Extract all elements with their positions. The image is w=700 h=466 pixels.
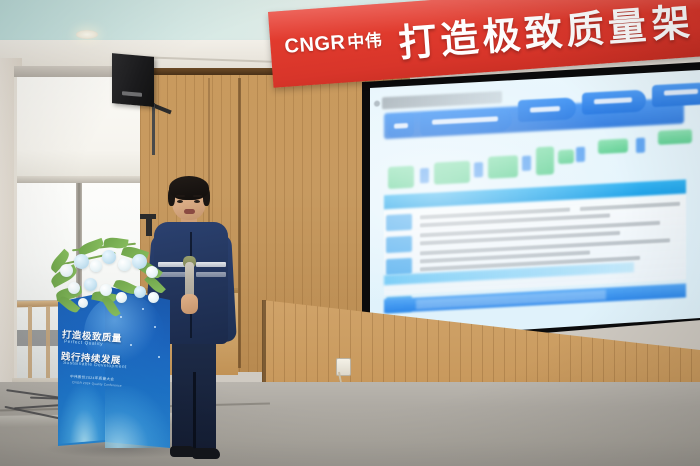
flower-bloom	[100, 284, 112, 296]
flower-bloom	[116, 292, 127, 303]
banner-headline: 打造极致质量	[396, 0, 651, 67]
podium-star	[130, 344, 132, 346]
person-mouth	[184, 209, 195, 214]
status-box-green-small	[558, 149, 574, 164]
flower-bloom	[90, 260, 102, 272]
cngr-logo-latin: CNGR	[284, 31, 346, 57]
flower-bloom	[60, 264, 73, 277]
status-box-green	[434, 161, 470, 185]
wood-door-edge	[238, 78, 241, 368]
status-connector-blue	[636, 138, 645, 153]
person-hand	[181, 294, 198, 314]
podium-star	[154, 326, 156, 328]
slide-title-text	[382, 91, 502, 109]
status-box-green	[488, 155, 518, 179]
speaker-support-pole	[152, 103, 155, 155]
status-box-green	[598, 138, 628, 154]
status-box-green	[658, 129, 692, 145]
banner-headline-cut: 架	[650, 0, 696, 49]
jacket-reflective-stripe	[196, 272, 226, 277]
status-box-green	[388, 166, 414, 189]
flower-bloom	[132, 254, 147, 269]
status-connector-blue	[420, 168, 429, 183]
podium-light-burst-right	[105, 386, 170, 448]
person-eyebrow	[176, 195, 185, 197]
projection-screen[interactable]	[370, 68, 700, 340]
status-connector-blue	[474, 162, 483, 177]
table-row-label	[386, 236, 412, 253]
person-shoe-right	[192, 448, 220, 459]
table-row-label	[386, 258, 412, 275]
flower-bloom	[84, 278, 97, 291]
flower-bloom	[146, 266, 158, 278]
podium-star	[158, 356, 160, 358]
flower-bloom	[134, 286, 146, 298]
ceiling-downlight-icon	[76, 30, 98, 39]
person-leg-split	[193, 372, 196, 452]
blind-bottom-bar	[17, 176, 143, 183]
jacket-reflective-stripe	[196, 262, 226, 267]
status-connector-blue	[576, 147, 585, 162]
flower-bloom	[148, 292, 159, 303]
step-label	[394, 123, 408, 129]
rail-post	[28, 306, 32, 384]
table-row-label	[386, 214, 412, 231]
cngr-logo-cn: 中伟	[347, 31, 383, 53]
person-eye	[194, 200, 200, 203]
wall-mounted-loudspeaker	[112, 53, 154, 107]
status-box-green-tall	[536, 146, 554, 175]
presentation-slide	[370, 68, 700, 340]
flower-bloom	[118, 258, 131, 271]
flower-arrangement	[48, 236, 178, 322]
status-connector-blue	[522, 156, 531, 171]
flower-bloom	[102, 250, 116, 264]
person-eyebrow	[193, 195, 202, 197]
slide-title-bullet-icon	[374, 100, 380, 106]
person-hair	[169, 176, 209, 200]
podium-light-burst-left	[58, 382, 106, 444]
person-eye	[177, 200, 183, 203]
flower-bloom	[68, 282, 80, 294]
flower-bloom	[74, 254, 89, 269]
conference-room-photo: CNGR中伟 打造极致质量 架	[0, 0, 700, 466]
